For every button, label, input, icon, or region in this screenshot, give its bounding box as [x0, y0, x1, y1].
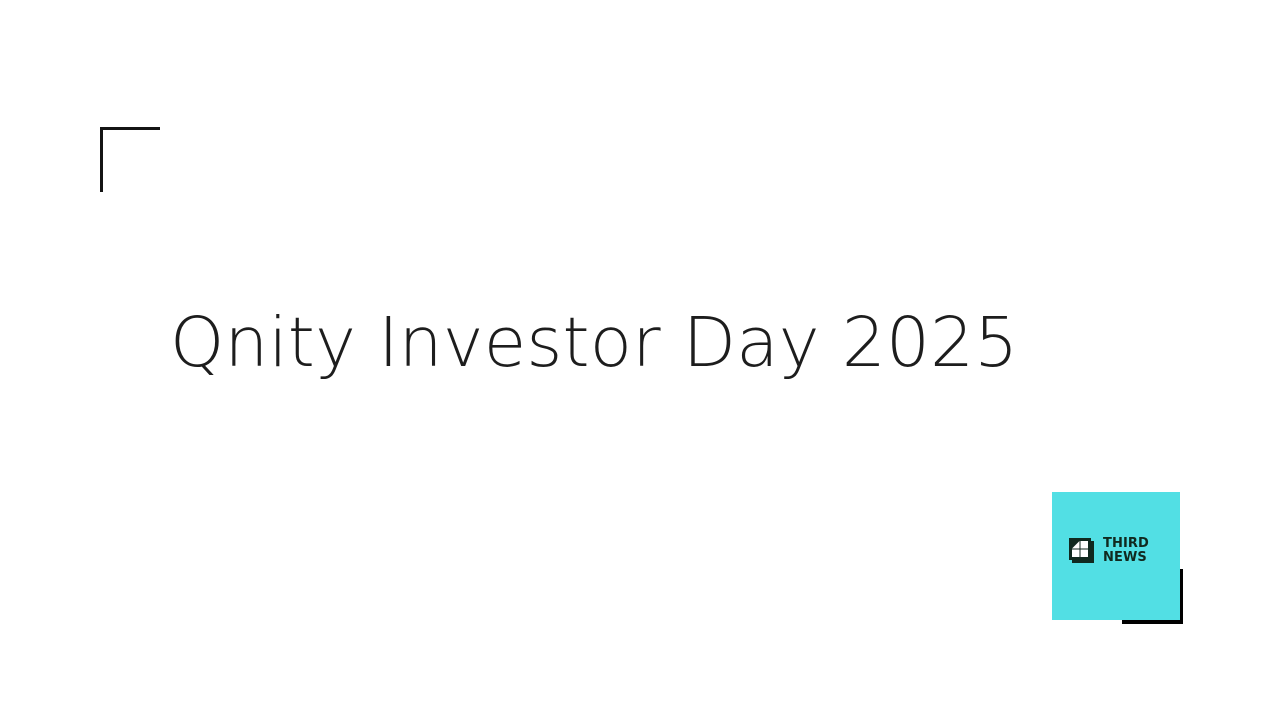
presentation-slide: Qnity Investor Day 2025: [0, 0, 1280, 720]
corner-bracket-decoration: [100, 127, 160, 192]
brand-wordmark-line2: NEWS: [1103, 551, 1149, 565]
brand-wordmark-line1: THIRD: [1103, 537, 1149, 551]
brand-lockup: THIRD NEWS: [1068, 537, 1149, 565]
page-title: Qnity Investor Day 2025: [170, 300, 1070, 386]
brand-wordmark: THIRD NEWS: [1103, 537, 1149, 565]
badge-square: THIRD NEWS: [1052, 492, 1180, 620]
newspaper-grid-icon: [1068, 537, 1096, 565]
brand-badge: THIRD NEWS: [1052, 492, 1180, 620]
